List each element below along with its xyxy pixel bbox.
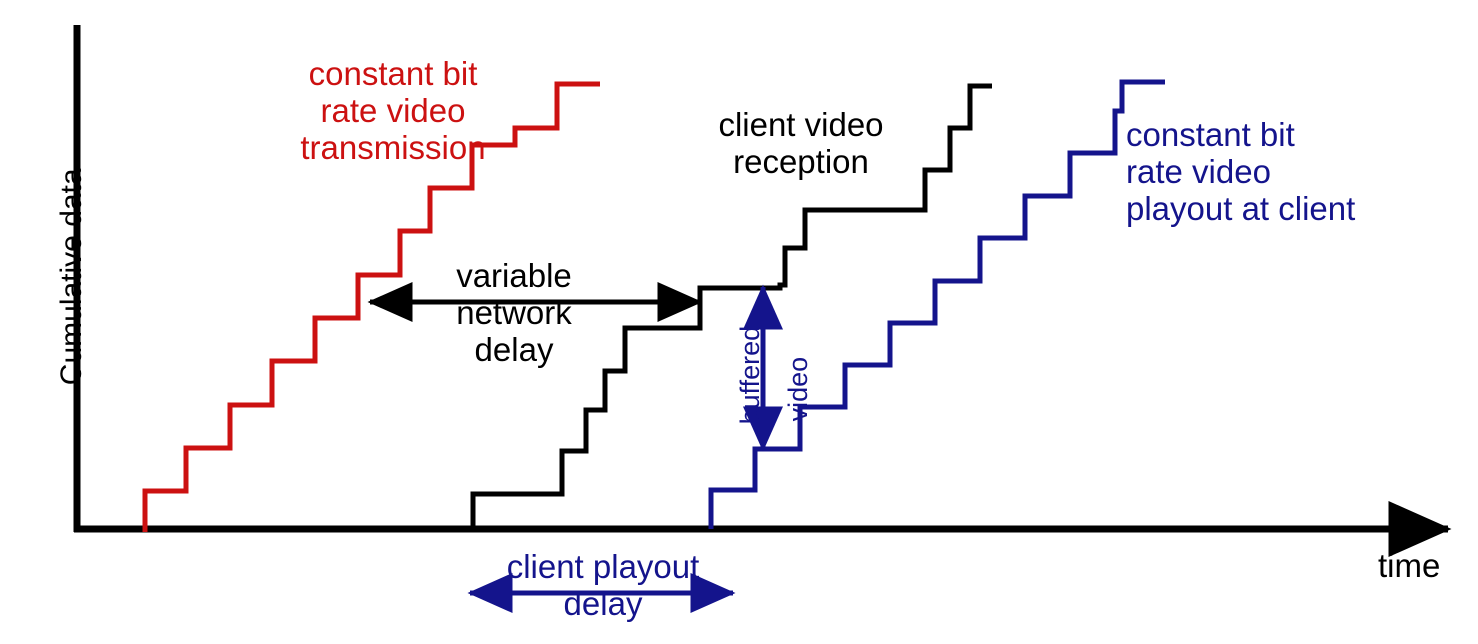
annotation-video: video — [783, 344, 813, 434]
y-axis-label: Cumulative data — [55, 147, 89, 407]
annotation-client-playout-delay: client playout delay — [478, 549, 728, 623]
streaming-delay-diagram: Cumulative data time constant bit rate v… — [0, 0, 1478, 644]
annotation-cbr-transmission: constant bit rate video transmission — [268, 56, 518, 167]
x-axis-label: time — [1378, 548, 1440, 585]
annotation-client-video-reception: client video reception — [686, 107, 916, 181]
annotation-buffered: buffered — [735, 315, 765, 435]
annotation-variable-network-delay: variable network delay — [434, 258, 594, 369]
annotation-cbr-playout: constant bit rate video playout at clien… — [1126, 117, 1396, 228]
